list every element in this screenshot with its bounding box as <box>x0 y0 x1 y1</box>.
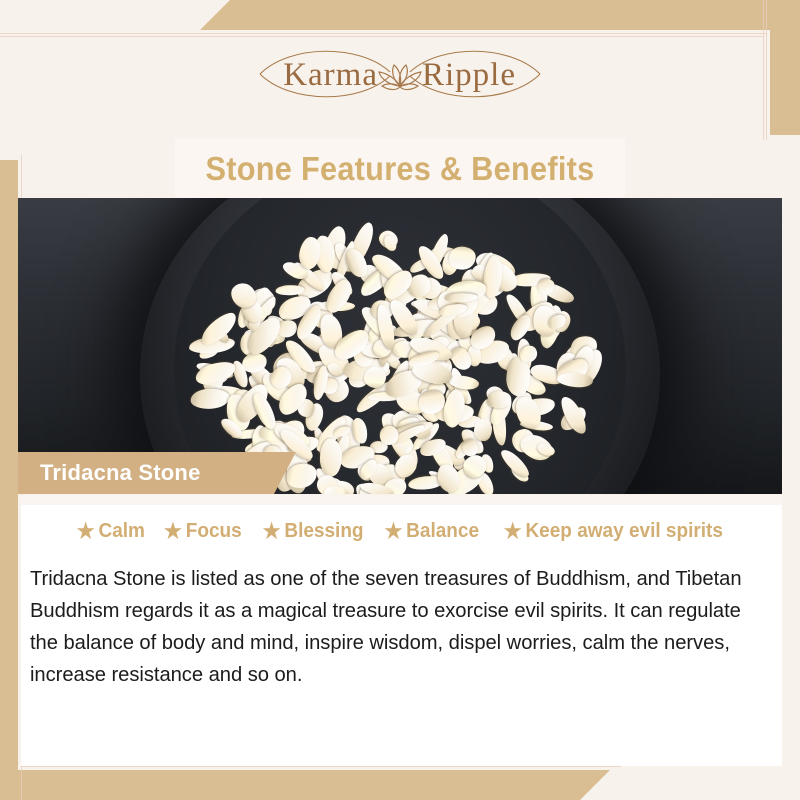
stone-chip <box>448 246 476 270</box>
page-title: Stone Features & Benefits <box>191 139 610 198</box>
brand-name-left: Karma <box>283 57 378 93</box>
benefit-item: ★Focus <box>164 520 242 543</box>
stone-chip <box>190 388 230 410</box>
benefit-label: Blessing <box>284 520 363 543</box>
benefit-label: Calm <box>98 520 144 543</box>
frame-band-bottom <box>0 770 610 800</box>
frame-hairline-top <box>0 33 767 34</box>
stone-name-label: Tridacna Stone <box>18 452 296 494</box>
benefit-item: ★Keep away evil spirits <box>504 520 723 543</box>
brand-logo-svg: Karma Ripple <box>250 38 550 110</box>
stone-features-poster: Karma Ripple Stone Features & Benefits T… <box>0 0 800 800</box>
frame-hairline-top-secondary <box>0 36 764 37</box>
stone-name-text: Tridacna Stone <box>18 460 201 486</box>
benefit-label: Balance <box>406 520 479 543</box>
brand-logo: Karma Ripple <box>0 38 800 110</box>
benefit-label: Keep away evil spirits <box>525 520 722 543</box>
frame-hairline-bottom <box>21 766 621 767</box>
star-icon: ★ <box>76 521 94 542</box>
stone-chip <box>474 419 492 441</box>
benefit-item: ★Calm <box>76 520 144 543</box>
content-panel: ★Calm★Focus★Blessing★Balance★Keep away e… <box>21 495 782 766</box>
benefits-list: ★Calm★Focus★Blessing★Balance★Keep away e… <box>21 520 782 543</box>
benefit-label: Focus <box>186 520 242 543</box>
product-photo <box>18 198 782 494</box>
stone-description: Tridacna Stone is listed as one of the s… <box>30 563 757 691</box>
content-top-divider <box>21 495 782 505</box>
star-icon: ★ <box>263 521 281 542</box>
brand-name-right: Ripple <box>422 57 516 93</box>
stone-chip <box>319 439 342 477</box>
benefit-item: ★Blessing <box>263 520 364 543</box>
frame-band-left <box>0 160 18 800</box>
frame-band-top <box>200 0 800 30</box>
star-icon: ★ <box>385 521 403 542</box>
star-icon: ★ <box>164 521 182 542</box>
benefit-item: ★Balance <box>385 520 480 543</box>
star-icon: ★ <box>504 521 522 542</box>
